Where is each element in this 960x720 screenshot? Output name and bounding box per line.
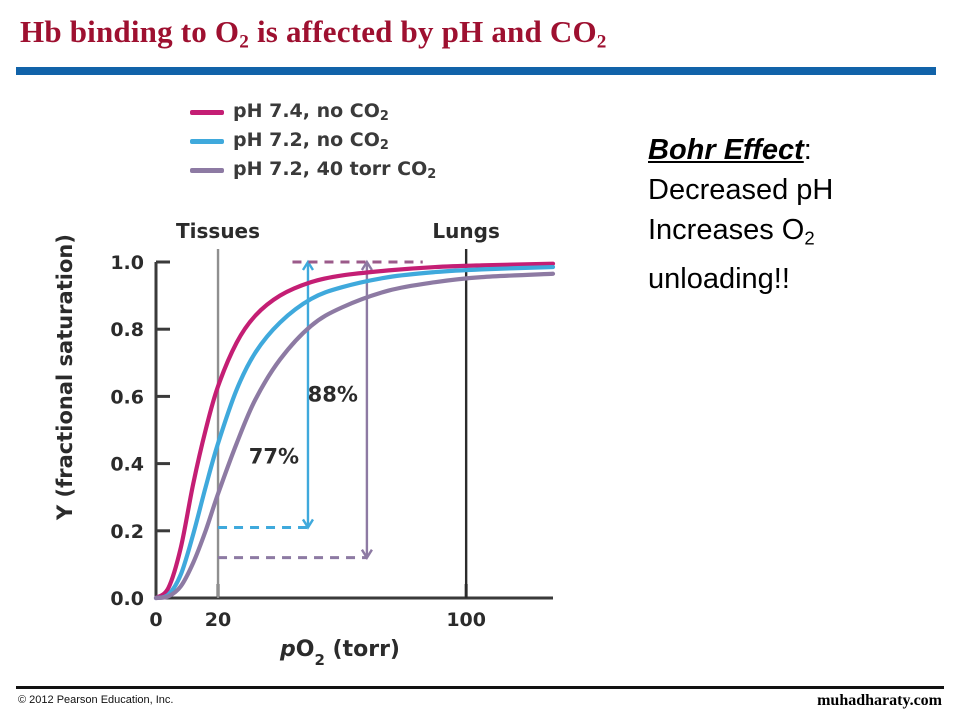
svg-text:0: 0	[149, 609, 162, 631]
slide-canvas: Hb binding to O2 is affected by pH and C…	[0, 0, 960, 720]
footer-divider	[16, 686, 944, 689]
x-axis-label: pO2 (torr)	[279, 637, 400, 669]
svg-text:100: 100	[446, 609, 486, 631]
page-title-sub-o2: 2	[239, 31, 249, 52]
callout-line-unloading: unloading!!	[648, 259, 948, 299]
curve-layer	[156, 264, 553, 598]
svg-text:1.0: 1.0	[110, 252, 144, 274]
svg-text:77%: 77%	[249, 445, 299, 469]
svg-text:20: 20	[205, 609, 231, 631]
svg-text:0.8: 0.8	[110, 319, 144, 341]
svg-text:Lungs: Lungs	[432, 219, 499, 243]
page-title: Hb binding to O2 is affected by pH and C…	[20, 14, 920, 53]
oxygen-binding-figure: pH 7.4, no CO2 pH 7.2, no CO2 pH 7.2, 40…	[40, 90, 630, 670]
svg-text:Tissues: Tissues	[176, 219, 260, 243]
x-axis-ticks: 020100	[149, 584, 486, 631]
y-axis-label: Y (fractional saturation)	[53, 234, 77, 521]
copyright-notice: © 2012 Pearson Education, Inc.	[18, 694, 173, 706]
bohr-effect-heading: Bohr Effect	[648, 134, 804, 166]
title-accent-bar	[16, 67, 936, 75]
page-title-part1: Hb binding to O	[20, 14, 239, 49]
saturation-curve-plot: Y (fractional saturation) 0.00.20.40.60.…	[40, 90, 630, 670]
svg-text:0.2: 0.2	[110, 521, 144, 543]
percent-labels: 77%88%	[249, 382, 358, 468]
callout-line-decreased-ph: Decreased pH	[648, 170, 948, 210]
callout-heading-line: Bohr Effect:	[648, 130, 948, 170]
svg-text:88%: 88%	[308, 382, 358, 406]
callout-line-increases-o2: Increases O2	[648, 210, 948, 259]
page-title-part2: is affected by pH and CO	[249, 14, 597, 49]
svg-text:0.6: 0.6	[110, 386, 144, 408]
bohr-effect-callout: Bohr Effect: Decreased pH Increases O2 u…	[648, 130, 948, 299]
site-watermark: muhadharaty.com	[817, 692, 942, 710]
y-axis-ticks: 0.00.20.40.60.81.0	[110, 252, 170, 610]
page-title-sub-co2: 2	[597, 31, 607, 52]
callout-heading-colon: :	[804, 134, 812, 166]
svg-text:0.4: 0.4	[110, 454, 144, 476]
callout-sub-o2: 2	[804, 228, 814, 249]
svg-text:0.0: 0.0	[110, 588, 144, 610]
